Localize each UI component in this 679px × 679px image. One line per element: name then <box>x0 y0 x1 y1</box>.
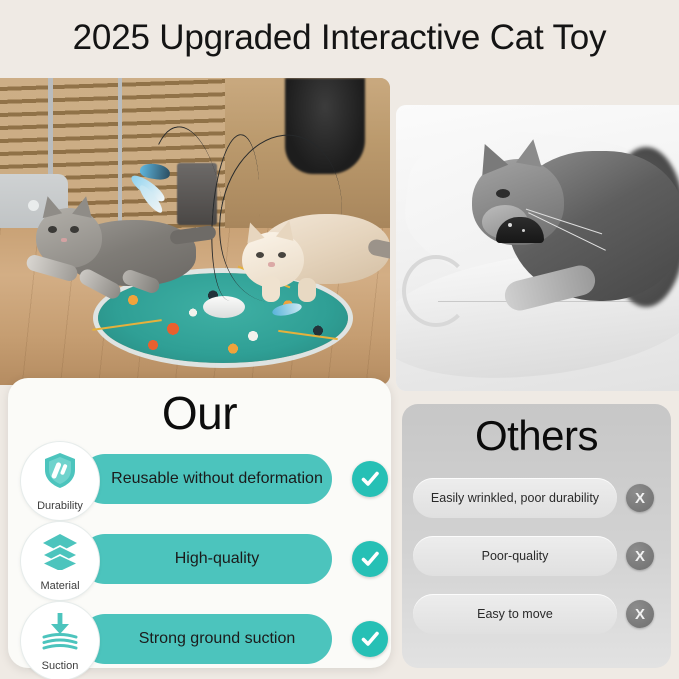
check-icon <box>352 541 388 577</box>
check-icon <box>352 461 388 497</box>
cat-eye <box>496 189 510 198</box>
others-feature-label: Easy to move <box>477 607 553 621</box>
product-infographic-page: 2025 Upgraded Interactive Cat Toy <box>0 0 679 679</box>
cat-eye-left <box>256 252 264 258</box>
others-feature-label: Poor-quality <box>482 549 549 563</box>
our-panel-title: Our <box>8 386 391 440</box>
cat-leg-front <box>262 276 280 302</box>
feather-toy-secondary <box>272 300 306 324</box>
cat-eye-left <box>48 226 57 233</box>
our-feature-rows: Reusable without deformation Durability <box>8 440 391 679</box>
others-comparison-panel: Others Easily wrinkled, poor durability … <box>402 404 671 668</box>
our-feature-pill[interactable]: High-quality <box>80 534 332 584</box>
cat-ear-right <box>72 194 96 218</box>
mat-center-hub <box>203 296 245 318</box>
our-feature-row: Strong ground suction Suction <box>8 600 391 679</box>
others-feature-pill[interactable]: Poor-quality <box>413 536 617 576</box>
our-badge-label: Durability <box>21 500 99 512</box>
others-panel-title: Others <box>402 412 671 460</box>
our-feature-pill[interactable]: Strong ground suction <box>80 614 332 664</box>
x-icon: X <box>626 600 654 628</box>
our-feature-label: Reusable without deformation <box>89 470 323 488</box>
our-feature-pill[interactable]: Reusable without deformation <box>80 454 332 504</box>
feather-plume-4 <box>271 301 303 318</box>
cat-nose <box>268 262 275 267</box>
cat-ear-right <box>516 137 546 167</box>
our-feature-row: High-quality Material <box>8 520 391 600</box>
others-feature-row: Easy to move X <box>402 590 671 648</box>
our-feature-label: High-quality <box>153 550 259 568</box>
others-feature-pill[interactable]: Easily wrinkled, poor durability <box>413 478 617 518</box>
cat-leg-rear <box>298 278 316 302</box>
feather-toy-main <box>128 164 178 214</box>
our-feature-row: Reusable without deformation Durability <box>8 440 391 520</box>
layers-icon <box>21 530 99 575</box>
toy-strap-loop <box>402 255 470 327</box>
x-glyph: X <box>635 491 645 506</box>
our-badge-label: Suction <box>21 660 99 672</box>
others-feature-row: Poor-quality X <box>402 532 671 590</box>
toy-highlight-2 <box>522 229 525 232</box>
photo-two-cats-playing <box>0 78 390 385</box>
check-icon <box>352 621 388 657</box>
others-feature-pill[interactable]: Easy to move <box>413 594 617 634</box>
cream-cat <box>240 196 390 308</box>
toy-highlight-1 <box>508 223 512 227</box>
suction-arrow-icon <box>21 610 99 655</box>
our-comparison-panel: Our Reusable without deformation <box>8 378 391 668</box>
x-glyph: X <box>635 607 645 622</box>
photo-cat-biting-toy <box>396 105 679 391</box>
cat-nose <box>61 238 67 242</box>
cat-eye-right <box>278 252 286 258</box>
cat-eye-right <box>70 226 79 233</box>
our-badge-suction: Suction <box>21 602 99 679</box>
shield-icon <box>21 450 99 495</box>
page-title: 2025 Upgraded Interactive Cat Toy <box>0 18 679 58</box>
our-badge-material: Material <box>21 522 99 600</box>
others-feature-row: Easily wrinkled, poor durability X <box>402 474 671 532</box>
our-badge-label: Material <box>21 580 99 592</box>
x-icon: X <box>626 484 654 512</box>
others-feature-label: Easily wrinkled, poor durability <box>431 491 599 505</box>
x-icon: X <box>626 542 654 570</box>
our-feature-label: Strong ground suction <box>117 630 296 648</box>
grey-tabby-cat <box>30 198 200 308</box>
others-feature-rows: Easily wrinkled, poor durability X Poor-… <box>402 474 671 648</box>
our-badge-durability: Durability <box>21 442 99 520</box>
x-glyph: X <box>635 549 645 564</box>
